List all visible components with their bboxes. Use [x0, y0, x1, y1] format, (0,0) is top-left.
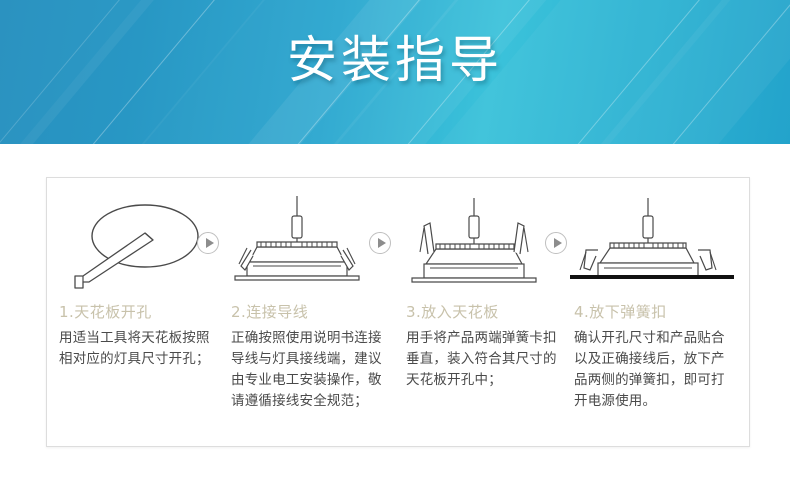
ceiling-cut-illustration — [53, 190, 221, 298]
step-item-1: 1.天花板开孔 用适当工具将天花板按照相对应的灯具尺寸开孔； — [53, 178, 221, 446]
downlight-springs-up-illustration — [400, 190, 568, 298]
content-area: 1.天花板开孔 用适当工具将天花板按照相对应的灯具尺寸开孔； — [0, 144, 790, 495]
step-item-3: 3.放入天花板 用手将产品两端弹簧卡扣垂直，装入符合其尺寸的天花板开孔中； — [400, 178, 568, 446]
step-title-3: 3.放入天花板 — [406, 302, 499, 322]
step-item-2: 2.连接导线 正确按照使用说明书连接导线与灯具接线端，建议由专业电工安装操作，敬… — [225, 178, 393, 446]
chevron-right-icon — [369, 232, 391, 254]
step-body-2: 正确按照使用说明书连接导线与灯具接线端，建议由专业电工安装操作，敬请遵循接线安全… — [231, 328, 383, 412]
step-body-4: 确认开孔尺寸和产品贴合以及正确接线后，放下产品两侧的弹簧扣，即可打开电源使用。 — [574, 328, 726, 412]
step-title-1: 1.天花板开孔 — [59, 302, 152, 322]
chevron-right-icon — [197, 232, 219, 254]
downlight-wiring-illustration — [225, 190, 393, 298]
step-body-3: 用手将产品两端弹簧卡扣垂直，装入符合其尺寸的天花板开孔中； — [406, 328, 558, 391]
installation-steps-panel: 1.天花板开孔 用适当工具将天花板按照相对应的灯具尺寸开孔； — [46, 177, 750, 447]
step-title-4: 4.放下弹簧扣 — [574, 302, 667, 322]
step-item-4: 4.放下弹簧扣 确认开孔尺寸和产品贴合以及正确接线后，放下产品两侧的弹簧扣，即可… — [568, 178, 736, 446]
downlight-installed-illustration — [568, 190, 736, 298]
page-title: 安装指导 — [0, 30, 790, 90]
chevron-right-icon — [545, 232, 567, 254]
step-title-2: 2.连接导线 — [231, 302, 308, 322]
page-banner: 安装指导 — [0, 0, 790, 144]
step-body-1: 用适当工具将天花板按照相对应的灯具尺寸开孔； — [59, 328, 211, 370]
steps-row: 1.天花板开孔 用适当工具将天花板按照相对应的灯具尺寸开孔； — [47, 178, 749, 446]
